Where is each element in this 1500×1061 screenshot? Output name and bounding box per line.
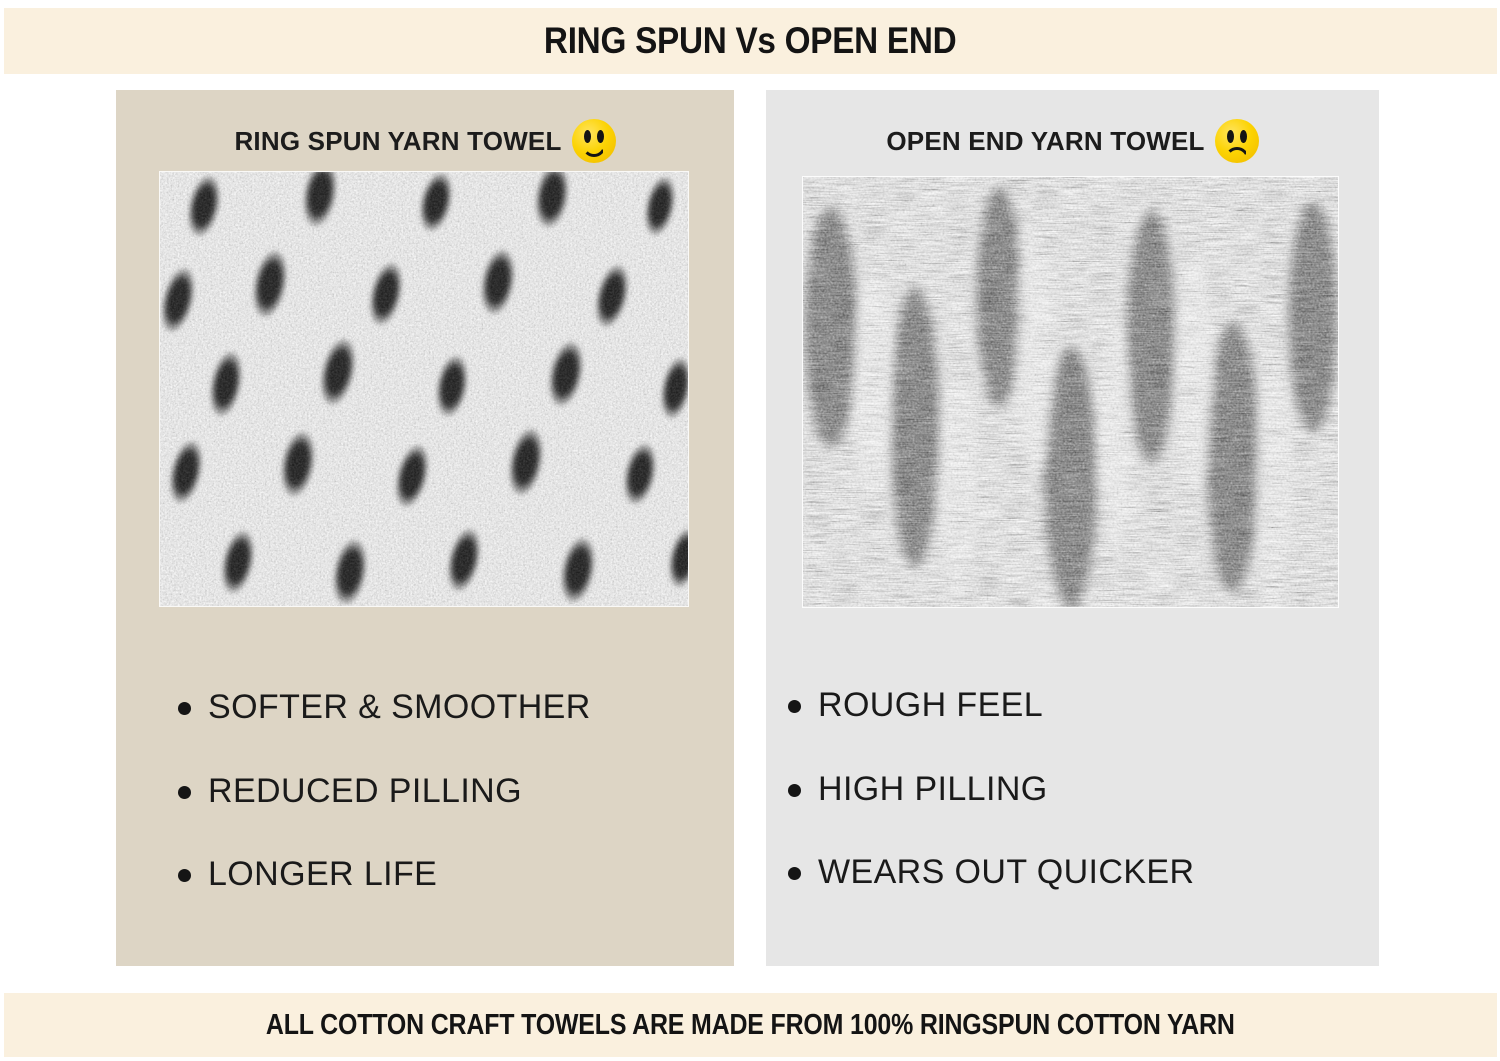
list-item: ROUGH FEEL (788, 688, 1328, 724)
eye-left (584, 130, 591, 143)
open-end-texture-image (803, 177, 1338, 607)
list-item: SOFTER & SMOOTHER (178, 690, 718, 726)
panel-ring-spun: RING SPUN YARN TOWEL (116, 90, 734, 966)
eye-left (1227, 130, 1234, 143)
eye-right (1240, 130, 1247, 143)
bullet-dot-icon (178, 869, 191, 882)
open-end-drawbacks-list: ROUGH FEEL HIGH PILLING WEARS OUT QUICKE… (788, 688, 1328, 939)
ring-spun-texture-image (160, 172, 688, 606)
ring-spun-benefits-list: SOFTER & SMOOTHER REDUCED PILLING LONGER… (178, 690, 718, 941)
footer-text: ALL COTTON CRAFT TOWELS ARE MADE FROM 10… (266, 1009, 1235, 1042)
bullet-dot-icon (178, 702, 191, 715)
list-item-label: ROUGH FEEL (818, 688, 1043, 724)
mouth-smile (582, 144, 606, 157)
bullet-dot-icon (788, 784, 801, 797)
panel-right-title: OPEN END YARN TOWEL (886, 126, 1204, 157)
list-item-label: REDUCED PILLING (208, 774, 522, 810)
header-band: RING SPUN Vs OPEN END (4, 8, 1497, 74)
panel-right-header: OPEN END YARN TOWEL (766, 114, 1379, 168)
panel-open-end: OPEN END YARN TOWEL (766, 90, 1379, 966)
list-item: LONGER LIFE (178, 857, 718, 893)
footer-band: ALL COTTON CRAFT TOWELS ARE MADE FROM 10… (4, 993, 1497, 1057)
smiley-happy-face-icon (572, 119, 616, 163)
list-item-label: HIGH PILLING (818, 772, 1048, 808)
list-item: WEARS OUT QUICKER (788, 855, 1328, 891)
mouth-frown (1225, 147, 1249, 160)
list-item-label: SOFTER & SMOOTHER (208, 690, 591, 726)
bullet-dot-icon (178, 786, 191, 799)
smiley-sad-face-icon (1215, 119, 1259, 163)
list-item-label: WEARS OUT QUICKER (818, 855, 1194, 891)
bullet-dot-icon (788, 867, 801, 880)
panel-left-title: RING SPUN YARN TOWEL (234, 126, 561, 157)
panel-left-header: RING SPUN YARN TOWEL (116, 114, 734, 168)
infographic-page: RING SPUN Vs OPEN END RING SPUN YARN TOW… (0, 0, 1500, 1061)
page-title: RING SPUN Vs OPEN END (544, 20, 957, 62)
eye-right (597, 130, 604, 143)
list-item: HIGH PILLING (788, 772, 1328, 808)
list-item-label: LONGER LIFE (208, 857, 437, 893)
bullet-dot-icon (788, 700, 801, 713)
list-item: REDUCED PILLING (178, 774, 718, 810)
